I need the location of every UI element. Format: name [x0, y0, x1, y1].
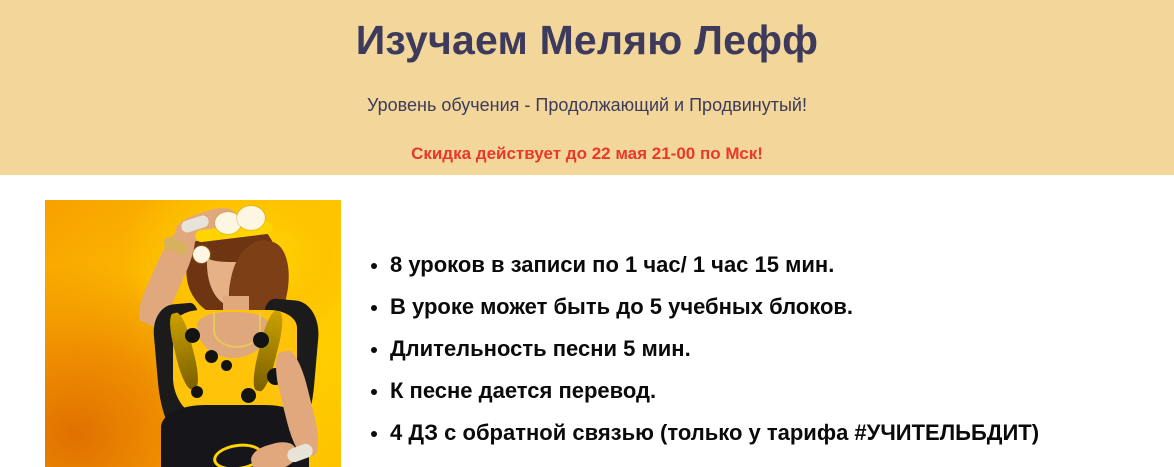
costume-dot — [191, 386, 203, 398]
page-title: Изучаем Меляю Лефф — [0, 14, 1174, 66]
costume-dot — [253, 332, 269, 348]
instructor-photo — [45, 200, 341, 467]
discount-deadline-text: Скидка действует до 22 мая 21-00 по Мск! — [0, 142, 1174, 165]
costume-dot — [185, 328, 200, 343]
list-item: В уроке может быть до 5 учебных блоков. — [362, 289, 1039, 325]
flower-two — [237, 206, 265, 230]
flower-three — [193, 246, 210, 263]
dancer-figure — [45, 200, 341, 467]
costume-dot — [205, 350, 218, 363]
promo-page: Изучаем Меляю Лефф Уровень обучения - Пр… — [0, 0, 1174, 467]
course-level-subtitle: Уровень обучения - Продолжающий и Продви… — [0, 93, 1174, 117]
list-item: Длительность песни 5 мин. — [362, 331, 1039, 367]
content-area: 8 уроков в записи по 1 час/ 1 час 15 мин… — [0, 175, 1174, 467]
list-item: 4 ДЗ с обратной связью (только у тарифа … — [362, 415, 1039, 451]
list-item: 8 уроков в записи по 1 час/ 1 час 15 мин… — [362, 247, 1039, 283]
costume-dot — [241, 388, 256, 403]
list-item: К песне дается перевод. — [362, 373, 1039, 409]
features-list: 8 уроков в записи по 1 час/ 1 час 15 мин… — [362, 247, 1039, 451]
costume-dot — [221, 360, 232, 371]
header-banner: Изучаем Меляю Лефф Уровень обучения - Пр… — [0, 0, 1174, 175]
